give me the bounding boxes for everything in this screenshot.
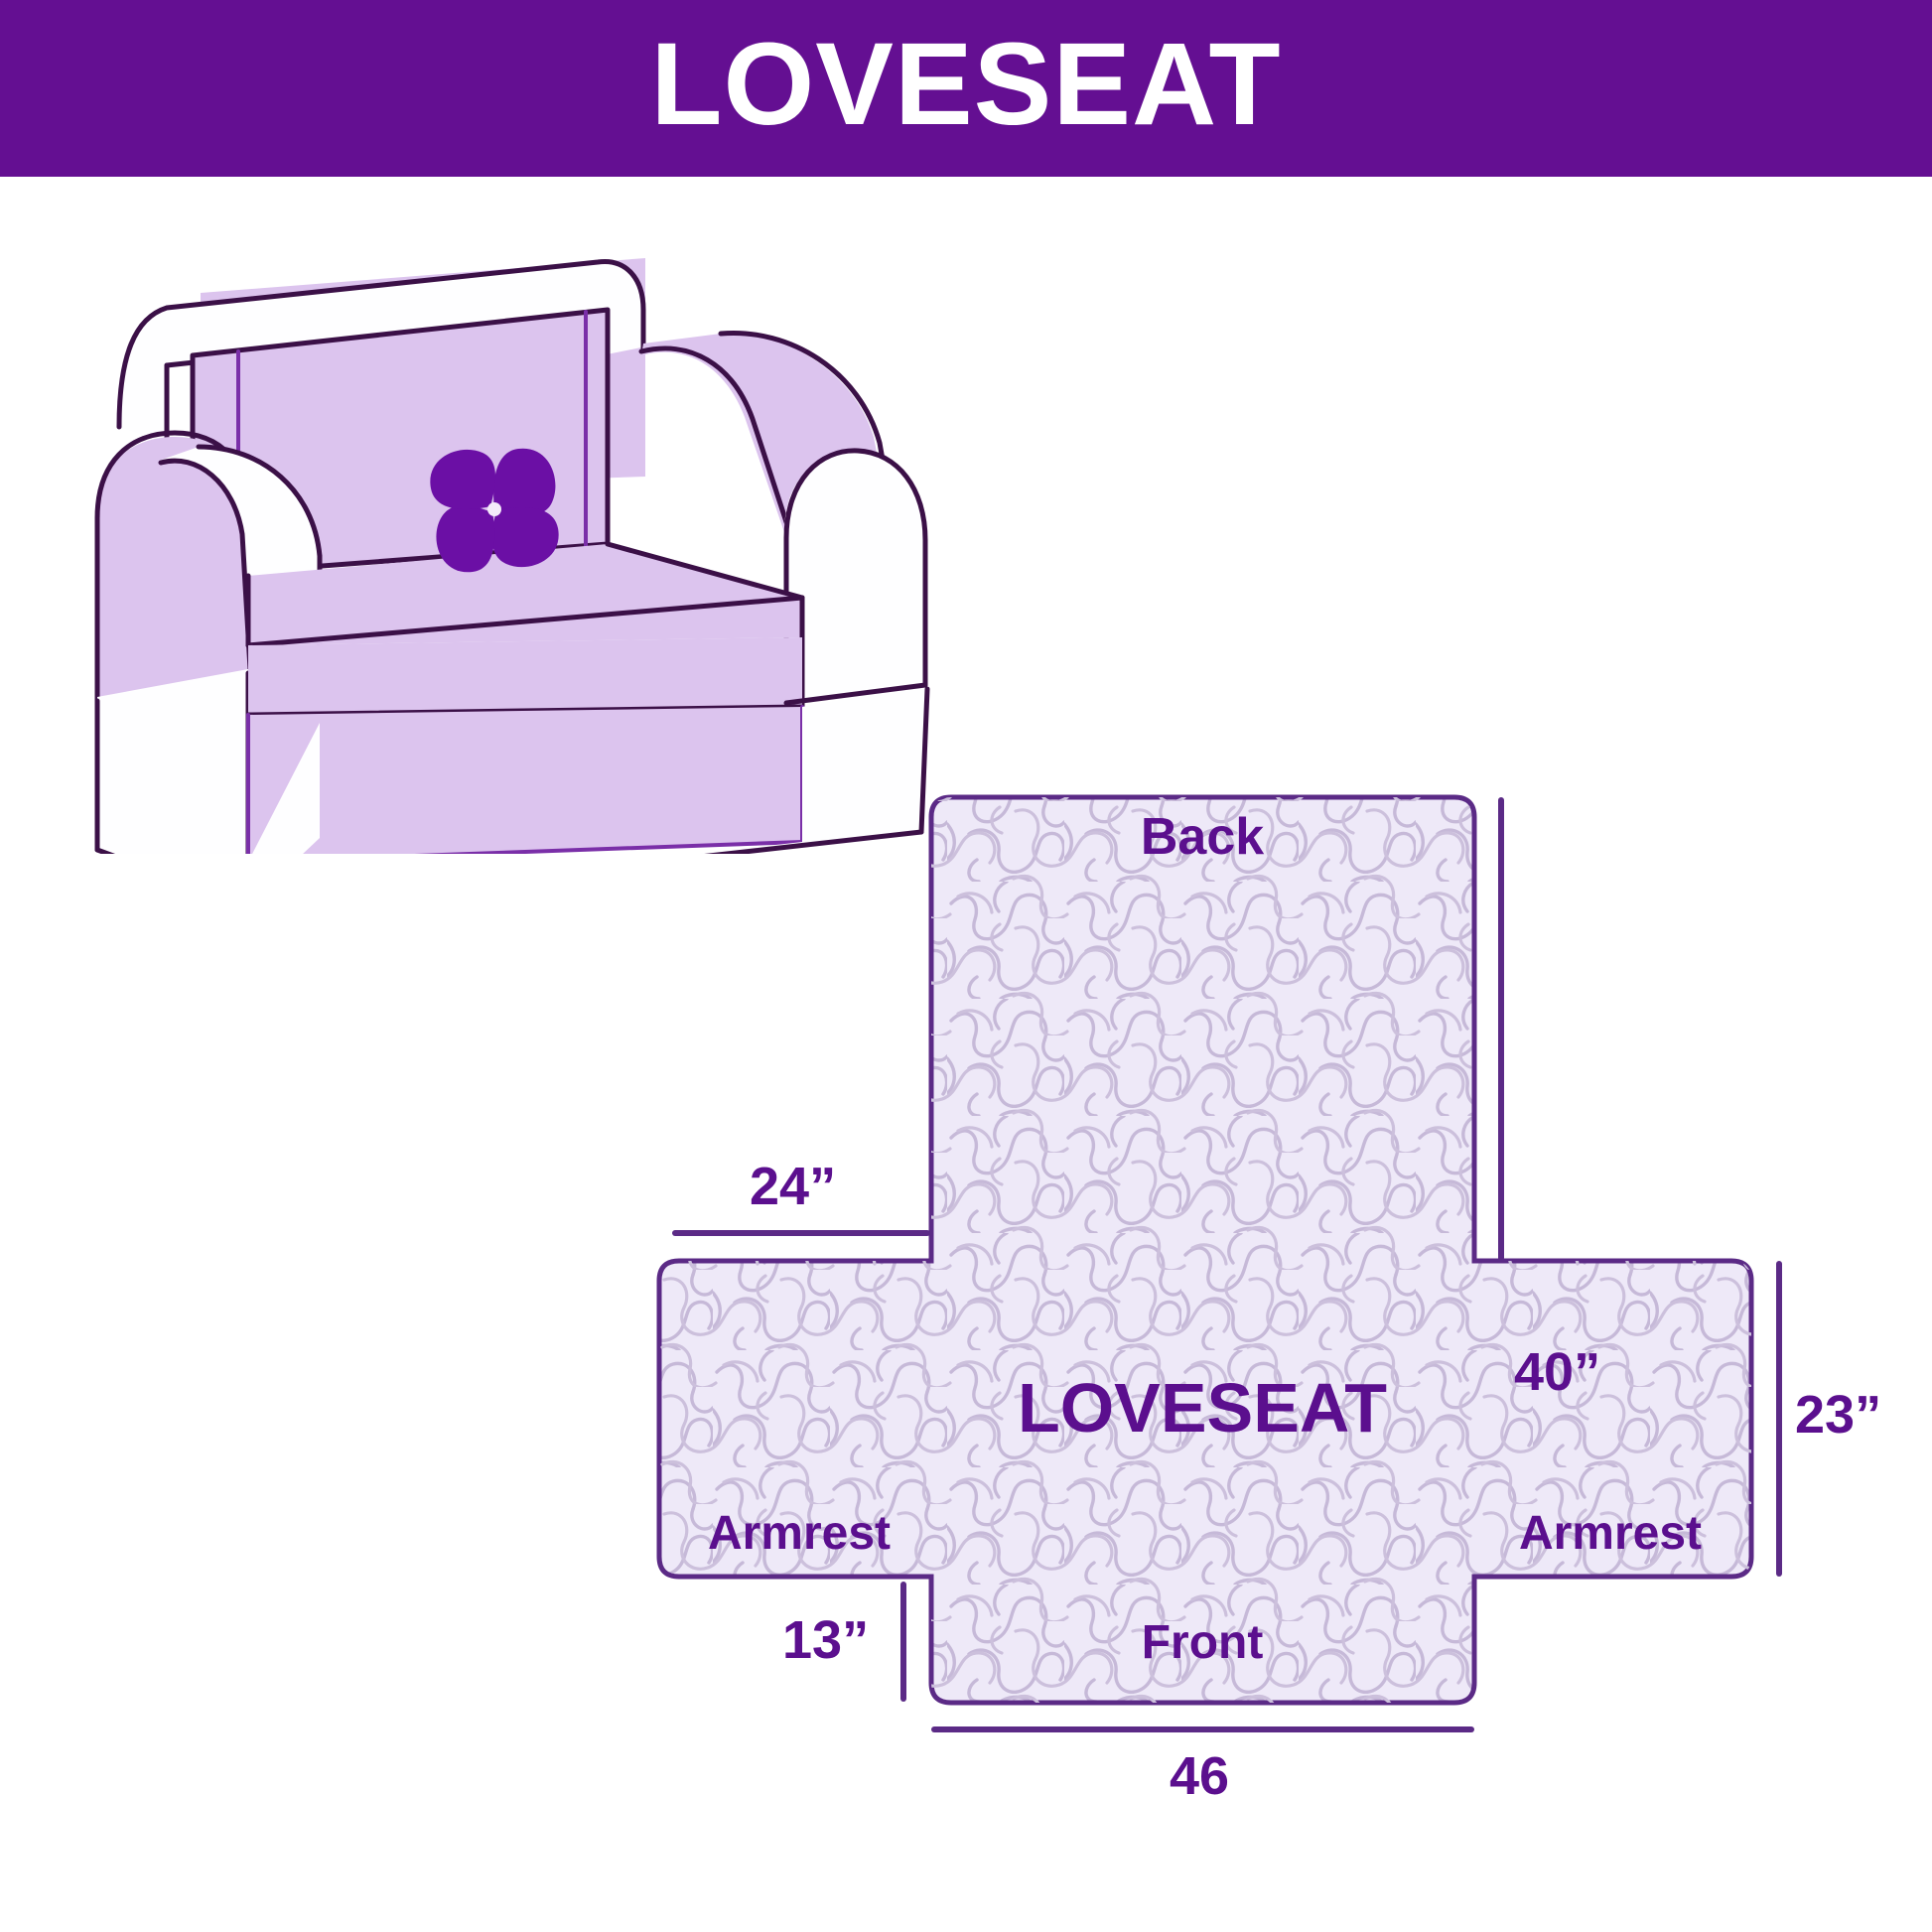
panel-label-back: Back xyxy=(1141,808,1264,866)
cross-shape-outline xyxy=(659,797,1751,1703)
dimension-label-46: 46 xyxy=(1170,1749,1229,1803)
loveseat-sofa-drawing: .out { fill:none; stroke:#3B1047; stroke… xyxy=(89,248,963,854)
panel-label-front: Front xyxy=(1142,1616,1264,1669)
dimension-label-23: 23” xyxy=(1795,1388,1881,1442)
cross-pattern-shape: Back LOVESEAT Armrest Armrest Front xyxy=(596,764,1932,1886)
dimension-label-40: 40” xyxy=(1514,1345,1600,1399)
loveseat-illustration: .out { fill:none; stroke:#3B1047; stroke… xyxy=(89,248,963,854)
header-banner: LOVESEAT xyxy=(0,0,1932,177)
product-dimension-infographic: LOVESEAT .out { fill:none; stroke:#3B104… xyxy=(0,0,1932,1932)
slipcover-pattern-diagram: Back LOVESEAT Armrest Armrest Front 40” … xyxy=(596,764,1932,1886)
panel-label-armrest-right: Armrest xyxy=(1519,1507,1702,1560)
dimension-label-13: 13” xyxy=(782,1613,869,1667)
panel-label-center: LOVESEAT xyxy=(1018,1369,1387,1447)
dimension-label-24: 24” xyxy=(750,1160,836,1213)
panel-label-armrest-left: Armrest xyxy=(708,1507,891,1560)
page-title: LOVESEAT xyxy=(650,26,1281,143)
